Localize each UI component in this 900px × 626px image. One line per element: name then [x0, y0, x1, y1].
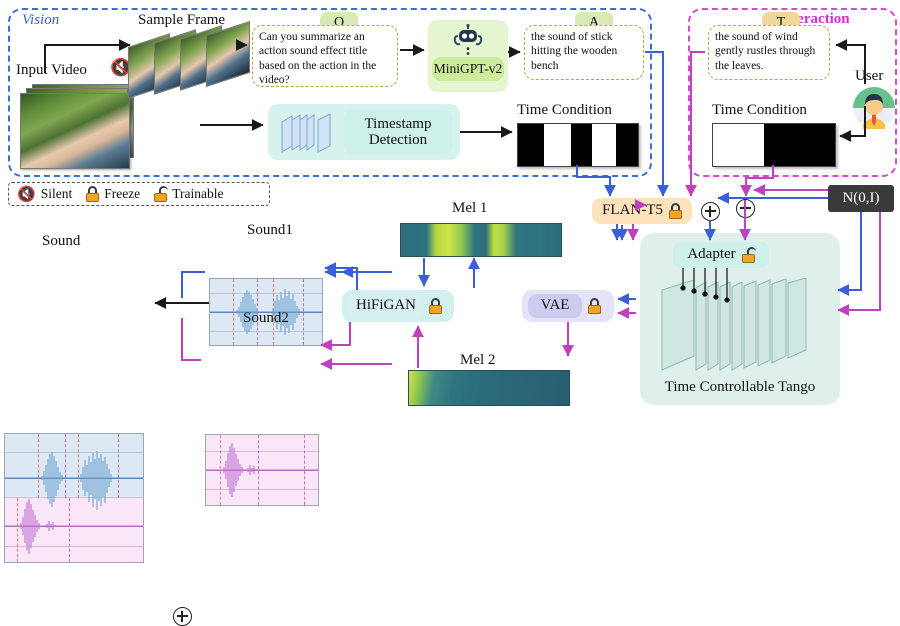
interaction-time-condition-label: Time Condition — [712, 102, 807, 120]
timestamp-detection-button[interactable]: Timestamp Detection — [344, 110, 452, 154]
sound-label: Sound — [42, 233, 80, 251]
robot-icon — [452, 24, 484, 48]
plus-circle-icon — [173, 607, 192, 626]
hifigan-button[interactable]: HiFiGAN — [349, 294, 423, 318]
hifigan-label: HiFiGAN — [356, 297, 416, 315]
vae-container: VAE — [522, 290, 614, 322]
tc-seg — [764, 124, 835, 166]
adapter-box[interactable]: Adapter — [673, 242, 769, 268]
legend-item-silent-label: Silent — [41, 186, 73, 202]
vae-label: VAE — [541, 297, 570, 315]
lock-closed-icon — [429, 298, 442, 314]
question-box: Can you summarize an action sound effect… — [252, 25, 398, 87]
noise-box: N(0,I) — [828, 185, 894, 212]
question-text: Can you summarize an action sound effect… — [259, 30, 391, 88]
legend-item-freeze-label: Freeze — [104, 186, 140, 202]
prompt-text: the sound of wind gently rustles through… — [715, 30, 823, 73]
tc-seg — [571, 124, 593, 166]
interaction-time-condition-bar — [712, 123, 836, 167]
noise-label: N(0,I) — [842, 190, 879, 208]
mel1-label: Mel 1 — [452, 200, 487, 218]
answer-text: the sound of stick hitting the wooden be… — [531, 30, 637, 73]
user-label: User — [855, 68, 883, 86]
timestamp-detection-label: Timestamp Detection — [344, 116, 452, 149]
minigpt-label: MiniGPT-v2 — [434, 61, 503, 77]
lock-closed-icon — [86, 186, 99, 202]
sample-frame-stack — [128, 30, 248, 92]
sound1-label: Sound1 — [247, 222, 293, 240]
lock-closed-icon — [588, 298, 601, 314]
tc-seg — [616, 124, 638, 166]
answer-box: the sound of stick hitting the wooden be… — [524, 25, 644, 80]
plus-circle-icon — [701, 202, 720, 221]
flan-t5-label: FLAN-T5 — [602, 202, 663, 220]
tc-seg — [518, 124, 544, 166]
legend-item-trainable-label: Trainable — [172, 186, 223, 202]
unet-stack-icon — [660, 278, 824, 378]
mute-icon: 🔇 — [17, 185, 36, 204]
tango-label: Time Controllable Tango — [640, 378, 840, 398]
timestamp-layers-icon — [278, 112, 338, 154]
vae-button[interactable]: VAE — [528, 294, 582, 318]
flan-t5-box[interactable]: FLAN-T5 — [592, 198, 692, 224]
lock-open-icon — [154, 186, 167, 202]
sample-frame-label: Sample Frame — [138, 12, 225, 30]
lock-closed-icon — [669, 203, 682, 219]
input-video-label: Input Video — [16, 62, 87, 80]
vision-time-condition-bar — [517, 123, 639, 167]
input-video-frames — [18, 84, 138, 166]
mel2-label: Mel 2 — [460, 352, 495, 370]
sound-panel — [4, 433, 144, 563]
vision-group-label: Vision — [22, 12, 59, 29]
tc-seg — [592, 124, 616, 166]
legend: 🔇 Silent Freeze Trainable — [8, 182, 270, 206]
lock-open-icon — [742, 247, 755, 263]
minigpt-icon-dots — [463, 47, 473, 56]
sound2-panel — [205, 434, 319, 506]
minigpt-button[interactable]: MiniGPT-v2 — [432, 57, 504, 81]
prompt-box: the sound of wind gently rustles through… — [708, 25, 830, 80]
sound2-label: Sound2 — [243, 310, 289, 328]
tc-seg — [713, 124, 764, 166]
plus-circle-icon — [736, 199, 755, 218]
mel2-spectrogram — [408, 370, 570, 406]
user-avatar-icon — [852, 86, 896, 130]
mel1-spectrogram — [400, 223, 562, 257]
tc-seg — [544, 124, 570, 166]
hifigan-container: HiFiGAN — [342, 290, 454, 322]
vision-time-condition-label: Time Condition — [517, 102, 612, 120]
adapter-label: Adapter — [687, 246, 735, 264]
